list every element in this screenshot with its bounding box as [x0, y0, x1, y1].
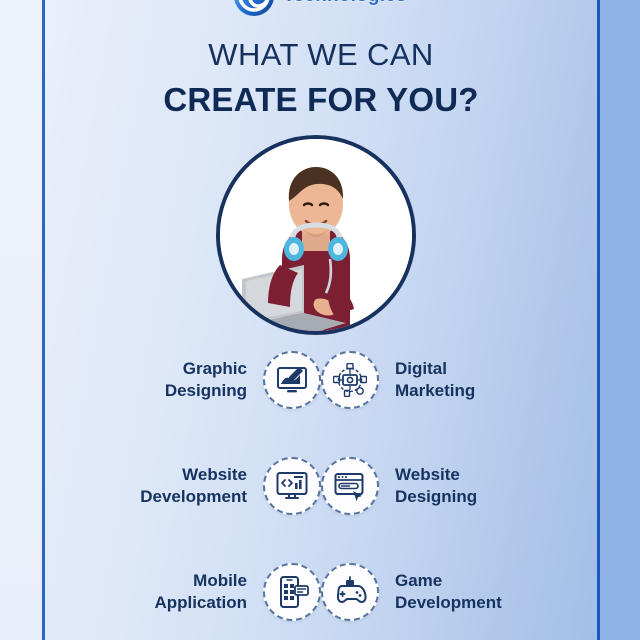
monitor-code-icon[interactable]: [263, 457, 321, 515]
promo-poster: Technologies WHAT WE CAN CREATE FOR YOU?: [0, 0, 640, 640]
game-controller-icon[interactable]: [321, 563, 379, 621]
left-margin-strip: [0, 0, 42, 640]
brand-logo: Technologies: [0, 0, 640, 18]
service-graphic-designing[interactable]: Graphic Designing: [45, 351, 321, 409]
title-line-1: WHAT WE CAN: [45, 38, 597, 73]
service-website-designing[interactable]: Website Designing: [321, 457, 597, 515]
service-label: Game Development: [395, 570, 502, 614]
service-label: Website Development: [140, 464, 247, 508]
services-row: Mobile Application: [45, 556, 597, 628]
title-line-2: CREATE FOR YOU?: [45, 82, 597, 119]
service-label: Mobile Application: [154, 570, 247, 614]
page-title: WHAT WE CAN CREATE FOR YOU?: [45, 38, 597, 119]
service-game-development[interactable]: Game Development: [321, 563, 597, 621]
service-label: Graphic Designing: [165, 358, 247, 402]
smartphone-app-icon[interactable]: [263, 563, 321, 621]
graphic-tablet-stylus-icon[interactable]: [263, 351, 321, 409]
right-margin-strip: [597, 0, 640, 640]
service-mobile-application[interactable]: Mobile Application: [45, 563, 321, 621]
services-row: Website Development: [45, 450, 597, 522]
right-vertical-rule: [597, 0, 600, 640]
service-label: Website Designing: [395, 464, 477, 508]
services-row: Graphic Designing: [45, 344, 597, 416]
browser-window-cursor-icon[interactable]: [321, 457, 379, 515]
hero-photo-circle: [216, 135, 416, 335]
service-label: Digital Marketing: [395, 358, 475, 402]
brand-wordmark: Technologies: [283, 0, 406, 7]
service-digital-marketing[interactable]: Digital Marketing: [321, 351, 597, 409]
digital-marketing-network-icon[interactable]: [321, 351, 379, 409]
person-with-laptop-illustration: [220, 139, 412, 331]
spiral-logo-icon: [233, 0, 275, 17]
service-website-development[interactable]: Website Development: [45, 457, 321, 515]
services-grid: Graphic Designing: [45, 344, 597, 628]
